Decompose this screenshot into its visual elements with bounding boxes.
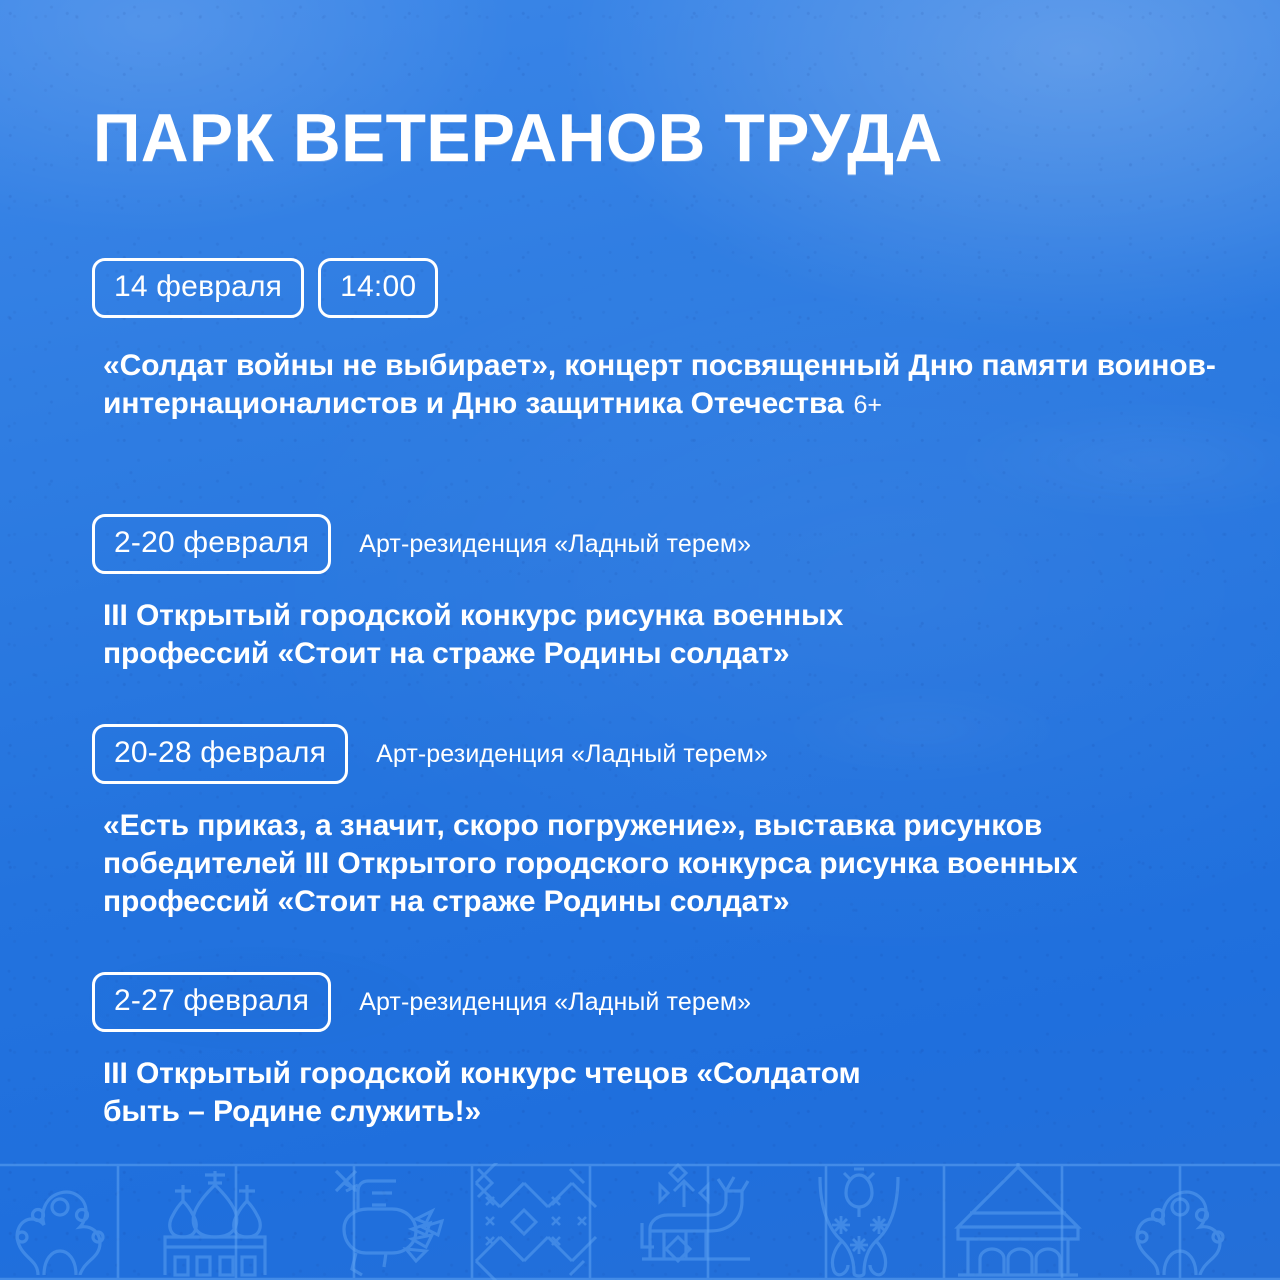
event-4-description: III Открытый городской конкурс чтецов «С… <box>0 1055 863 1131</box>
event-2-description-wrap: III Открытый городской конкурс рисунка в… <box>0 597 1280 673</box>
ornament-svg <box>0 1163 1280 1280</box>
page-title: ПАРК ВЕТЕРАНОВ ТРУДА <box>93 100 943 176</box>
event-3-venue-label: Арт-резиденция «Ладный терем» <box>376 740 768 768</box>
event-2-description: III Открытый городской конкурс рисунка в… <box>0 597 1003 673</box>
event-3-description: «Есть приказ, а значит, скоро погружение… <box>0 807 1193 921</box>
event-1-description-text: «Солдат войны не выбирает», концерт посв… <box>0 347 1243 424</box>
event-1-date-badge[interactable]: 14 февраля <box>92 258 304 318</box>
event-4-description-wrap: III Открытый городской конкурс чтецов «С… <box>0 1055 1280 1131</box>
event-3-description-wrap: «Есть приказ, а значит, скоро погружение… <box>0 807 1280 921</box>
event-1-age-rating: 6+ <box>854 391 883 419</box>
event-1-description: «Солдат войны не выбирает», концерт посв… <box>103 349 1216 420</box>
event-2-date-badge[interactable]: 2-20 февраля <box>92 514 331 574</box>
poster-canvas: ПАРК ВЕТЕРАНОВ ТРУДА 14 февраля 14:00 «С… <box>0 0 1280 1280</box>
event-3-badge-row: 20-28 февраля Арт-резиденция «Ладный тер… <box>0 724 1280 784</box>
event-2-venue-label: Арт-резиденция «Ладный терем» <box>359 530 751 558</box>
event-2-badge-row: 2-20 февраля Арт-резиденция «Ладный тере… <box>0 514 1280 574</box>
event-4-venue-label: Арт-резиденция «Ладный терем» <box>359 988 751 1016</box>
folk-ornament-strip <box>0 1163 1280 1280</box>
event-4-badge-row: 2-27 февраля Арт-резиденция «Ладный тере… <box>0 972 1280 1032</box>
event-4-date-badge[interactable]: 2-27 февраля <box>92 972 331 1032</box>
event-block-1: 14 февраля 14:00 <box>0 258 1280 318</box>
event-3-date-badge[interactable]: 20-28 февраля <box>92 724 348 784</box>
event-block-4: 2-27 февраля Арт-резиденция «Ладный тере… <box>0 972 1280 1032</box>
poster-content: ПАРК ВЕТЕРАНОВ ТРУДА 14 февраля 14:00 «С… <box>0 0 1280 1280</box>
event-1-badge-row: 14 февраля 14:00 <box>0 258 1280 318</box>
event-block-2: 2-20 февраля Арт-резиденция «Ладный тере… <box>0 514 1280 574</box>
event-1-time-badge[interactable]: 14:00 <box>318 258 438 318</box>
event-block-3: 20-28 февраля Арт-резиденция «Ладный тер… <box>0 724 1280 784</box>
event-1-description-wrap: «Солдат войны не выбирает», концерт посв… <box>0 347 1280 424</box>
